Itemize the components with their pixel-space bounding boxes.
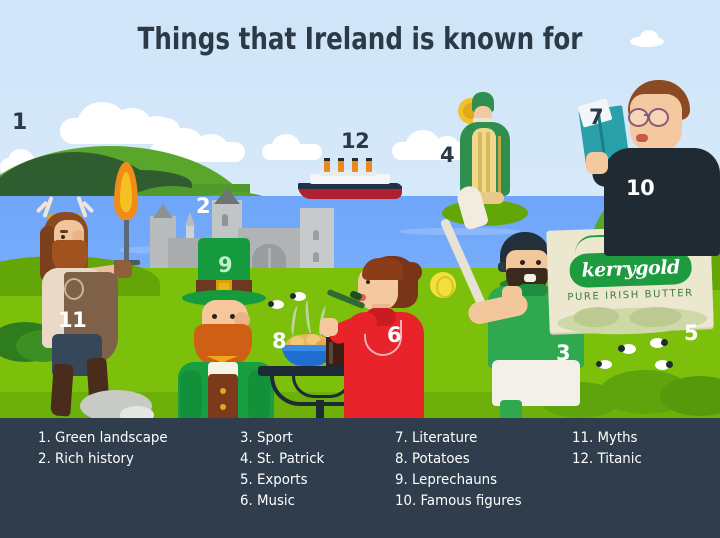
legend-number: 5. — [240, 472, 253, 488]
warrior-glove — [114, 260, 132, 278]
infographic-poster: kerrygold PURE IRISH BUTTER 1 — [0, 0, 720, 538]
marker-7: 7 — [589, 107, 603, 128]
legend-label: Potatoes — [412, 451, 470, 467]
legend-label: Green landscape — [55, 430, 168, 446]
legend-number: 3. — [240, 430, 253, 446]
legend-number: 1. — [38, 430, 51, 446]
reader-glasses-lens — [648, 108, 669, 127]
reader-figure — [584, 80, 720, 256]
legend-column-3: 7. Literature 8. Potatoes 9. Leprechauns… — [395, 428, 565, 512]
leprechaun-eye — [212, 314, 217, 319]
reader-mouth — [636, 134, 648, 142]
legend-column-1: 1. Green landscape 2. Rich history — [38, 428, 218, 470]
legend-item: 7. Literature — [395, 428, 551, 449]
reader-glasses-lens — [628, 108, 649, 127]
legend-item: 9. Leprechauns — [395, 470, 551, 491]
marker-6: 6 — [387, 325, 401, 346]
celtic-warrior-figure — [28, 168, 168, 418]
legend-number: 8. — [395, 451, 408, 467]
sheep-icon — [290, 292, 306, 301]
legend-number: 6. — [240, 493, 253, 509]
kerrygold-brand-text: kerrygold — [569, 253, 692, 285]
musician-figure — [330, 256, 438, 420]
legend-label: Sport — [257, 430, 293, 446]
leprechaun-button — [220, 404, 226, 410]
hurler-eye — [520, 260, 525, 265]
saint-crozier — [498, 136, 501, 198]
musician-hand — [320, 318, 338, 336]
legend-column-4: 11. Myths 12. Titanic — [572, 428, 717, 470]
ship-funnel-top — [352, 158, 358, 161]
marker-3: 3 — [556, 343, 570, 364]
castle-window — [313, 252, 319, 262]
castle-window — [222, 214, 228, 226]
marker-9: 9 — [218, 255, 232, 276]
ship-funnel-top — [324, 158, 330, 161]
warrior-boot — [50, 363, 74, 416]
leprechaun-arm — [180, 370, 202, 420]
legend-number: 2. — [38, 451, 51, 467]
marker-8: 8 — [272, 331, 286, 352]
legend-label: Titanic — [597, 451, 641, 467]
legend-label: St. Patrick — [257, 451, 324, 467]
saint-robe-stripe — [478, 132, 482, 194]
legend-item: 12. Titanic — [572, 449, 705, 470]
marker-1: 1 — [12, 112, 27, 134]
leprechaun-waistcoat — [208, 374, 238, 420]
legend-number: 10. — [395, 493, 416, 509]
musician-hair-front — [362, 258, 406, 280]
legend-label: Literature — [412, 430, 477, 446]
legend-item: 5. Exports — [240, 470, 378, 491]
reader-glasses-bridge — [644, 114, 650, 116]
legend-number: 11. — [572, 430, 593, 446]
gaa-crest — [502, 304, 524, 318]
legend-label: Leprechauns — [412, 472, 497, 488]
legend-label: Exports — [257, 472, 308, 488]
legend-item: 6. Music — [240, 491, 378, 512]
legend-item: 1. Green landscape — [38, 428, 204, 449]
hurler-mouth — [524, 274, 536, 282]
table-leg — [316, 400, 324, 420]
legend-number: 4. — [240, 451, 253, 467]
sheep-icon — [655, 360, 673, 370]
legend-item: 2. Rich history — [38, 449, 204, 470]
sliotar-seam — [436, 276, 454, 298]
ship-funnel-top — [338, 158, 344, 161]
musician-bun — [402, 262, 422, 282]
legend-bar: 1. Green landscape 2. Rich history 3. Sp… — [0, 418, 720, 538]
legend-columns: 1. Green landscape 2. Rich history 3. Sp… — [0, 418, 720, 538]
legend-item: 11. Myths — [572, 428, 705, 449]
sheep-icon — [618, 344, 636, 354]
legend-item: 8. Potatoes — [395, 449, 551, 470]
marker-5: 5 — [684, 323, 698, 344]
musician-eye — [366, 280, 370, 284]
legend-number: 12. — [572, 451, 593, 467]
hurler-hand — [502, 286, 522, 306]
saint-robe-stripe — [486, 132, 490, 194]
warrior-eye — [61, 235, 65, 239]
marker-11: 11 — [58, 310, 86, 331]
castle-tower-center-roof — [214, 188, 240, 204]
marker-4: 4 — [440, 145, 454, 166]
legend-item: 10. Famous figures — [395, 491, 551, 512]
castle-spire-top — [185, 212, 195, 226]
sheep-icon — [596, 360, 612, 369]
page-title: Things that Ireland is known for — [65, 22, 655, 57]
legend-number: 9. — [395, 472, 408, 488]
kerrygold-tagline: PURE IRISH BUTTER — [558, 287, 702, 303]
marker-10: 10 — [626, 178, 654, 199]
hurler-sock — [500, 400, 522, 420]
ship-funnel-top — [366, 158, 372, 161]
sheep-icon — [650, 338, 668, 348]
hurler-eye — [536, 260, 541, 265]
illustration-scene: kerrygold PURE IRISH BUTTER 1 — [0, 0, 720, 420]
legend-item: 4. St. Patrick — [240, 449, 378, 470]
hurler-collar — [518, 284, 548, 296]
warrior-necklace — [64, 278, 84, 300]
warrior-brow — [60, 230, 68, 233]
leprechaun-button — [220, 388, 226, 394]
legend-label: Music — [257, 493, 295, 509]
legend-item: 3. Sport — [240, 428, 378, 449]
marker-12: 12 — [341, 131, 369, 152]
reader-hand — [586, 152, 608, 174]
marker-2: 2 — [196, 196, 210, 217]
castle-battlement — [300, 208, 334, 214]
castle-window — [313, 230, 319, 240]
legend-label: Rich history — [55, 451, 134, 467]
legend-label: Famous figures — [420, 493, 521, 509]
legend-column-2: 3. Sport 4. St. Patrick 5. Exports 6. Mu… — [240, 428, 390, 512]
legend-number: 7. — [395, 430, 408, 446]
legend-label: Myths — [597, 430, 637, 446]
